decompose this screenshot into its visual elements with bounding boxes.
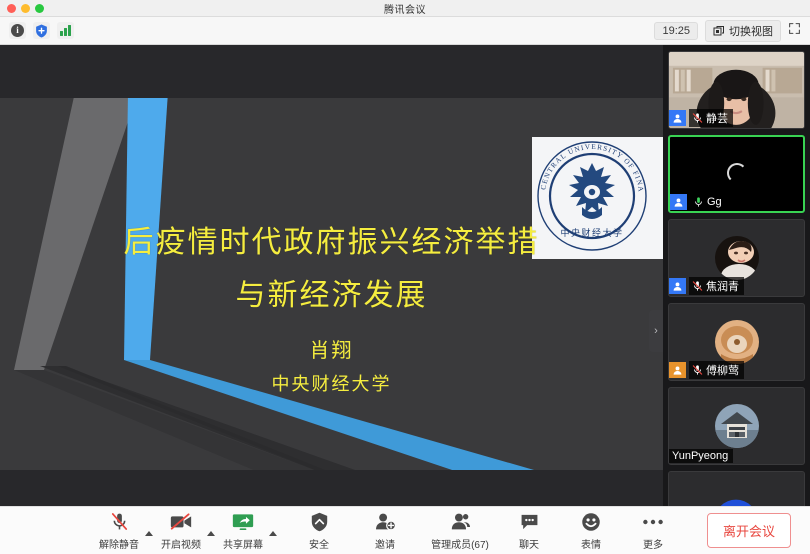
participant-tile-active[interactable]: Gg — [668, 135, 805, 213]
switch-view-label: 切换视图 — [729, 23, 773, 39]
participant-name-chip: Gg — [690, 195, 727, 209]
start-video-button[interactable]: 开启视频 — [157, 511, 205, 551]
start-video-label: 开启视频 — [161, 536, 201, 551]
person-icon — [672, 281, 683, 292]
slide-title-line1: 后疫情时代政府振兴经济举措 — [0, 216, 663, 269]
topbar-left-icons: i — [9, 22, 74, 39]
screen-share-icon — [232, 511, 254, 533]
participant-badge-icon — [669, 362, 686, 378]
manage-members-label: 管理成员(67) — [431, 536, 489, 551]
mic-active-icon — [693, 196, 704, 208]
person-icon — [672, 365, 683, 376]
avatar-photo — [715, 320, 759, 364]
participant-tile-partial[interactable] — [668, 471, 805, 506]
mic-muted-icon — [110, 511, 129, 533]
participant-name: 傅柳莺 — [706, 362, 739, 378]
participant-label: 焦润青 — [669, 276, 749, 296]
chevron-right-icon: › — [654, 325, 658, 337]
fullscreen-icon — [788, 22, 801, 35]
more-button[interactable]: 更多 — [629, 511, 677, 551]
topbar-right-controls: 19:25 切换视图 — [654, 20, 801, 42]
collapse-panel-handle[interactable]: › — [649, 310, 663, 352]
slide-organization: 中央财经大学 — [0, 370, 663, 396]
share-screen-label: 共享屏幕 — [223, 536, 263, 551]
avatar-photo — [715, 236, 759, 280]
avatar-photo — [715, 404, 759, 448]
reactions-button[interactable]: 表情 — [567, 511, 615, 551]
video-off-icon — [170, 511, 192, 533]
invite-label: 邀请 — [375, 536, 395, 551]
participant-label: YunPyeong — [669, 448, 738, 464]
participant-badge-icon — [669, 278, 686, 294]
network-signal-icon[interactable] — [57, 22, 74, 39]
leave-meeting-button[interactable]: 离开会议 — [707, 513, 791, 548]
participant-name-chip: 傅柳莺 — [689, 361, 744, 379]
meeting-toolbar: 解除静音 开启视频 — [0, 506, 810, 554]
fullscreen-button[interactable] — [788, 22, 801, 40]
shield-plus-icon[interactable] — [33, 22, 50, 39]
avatar-photo — [669, 472, 804, 506]
share-options-caret-icon[interactable] — [269, 531, 277, 536]
person-add-icon — [375, 511, 396, 533]
audio-options-caret-icon[interactable] — [145, 531, 153, 536]
chat-button[interactable]: 聊天 — [505, 511, 553, 551]
participant-rail[interactable]: 静芸 Gg — [663, 45, 810, 506]
unmute-button[interactable]: 解除静音 — [95, 511, 143, 551]
ellipsis-icon — [642, 511, 664, 533]
participant-name: 静芸 — [706, 110, 728, 126]
participant-tile[interactable]: 焦润青 — [668, 219, 805, 297]
participant-name-chip: 静芸 — [689, 109, 733, 127]
window-titlebar: 腾讯会议 — [0, 0, 810, 17]
mic-muted-icon — [692, 280, 703, 292]
toolbar-items: 解除静音 开启视频 — [95, 511, 677, 551]
chat-label: 聊天 — [519, 536, 539, 551]
info-icon-glyph: i — [11, 24, 24, 37]
shield-plus-icon-glyph — [35, 24, 48, 38]
participant-badge-icon — [669, 110, 686, 126]
app-topbar: i 19:25 切换视图 — [0, 17, 810, 45]
security-button[interactable]: 安全 — [295, 511, 343, 551]
participant-name: Gg — [707, 196, 722, 208]
participant-name-chip: YunPyeong — [669, 449, 733, 463]
people-icon — [450, 511, 471, 533]
slide-author: 肖翔 — [0, 334, 663, 363]
meeting-window: 腾讯会议 i 19:25 — [0, 0, 810, 554]
mic-muted-icon — [692, 112, 703, 124]
presentation-slide: CENTRAL UNIVERSITY OF FINANCE AND ECONOM… — [0, 98, 663, 470]
slide-title-line2: 与新经济发展 — [0, 269, 663, 322]
person-icon — [673, 197, 684, 208]
video-options-caret-icon[interactable] — [207, 531, 215, 536]
reactions-label: 表情 — [581, 536, 601, 551]
invite-button[interactable]: 邀请 — [361, 511, 409, 551]
more-label: 更多 — [643, 536, 663, 551]
participant-badge-icon — [670, 194, 687, 210]
slide-title: 后疫情时代政府振兴经济举措 与新经济发展 — [0, 216, 663, 322]
shared-content-stage: CENTRAL UNIVERSITY OF FINANCE AND ECONOM… — [0, 45, 663, 506]
participant-label: 静芸 — [669, 108, 738, 128]
unmute-label: 解除静音 — [99, 536, 139, 551]
avatar — [715, 320, 759, 364]
meeting-clock: 19:25 — [654, 22, 698, 40]
participant-label: 傅柳莺 — [669, 360, 749, 380]
participant-label: Gg — [670, 193, 732, 211]
participant-name-chip: 焦润青 — [689, 277, 744, 295]
switch-view-button[interactable]: 切换视图 — [705, 20, 781, 42]
avatar — [715, 404, 759, 448]
share-screen-button[interactable]: 共享屏幕 — [219, 511, 267, 551]
participant-name: 焦润青 — [706, 278, 739, 294]
avatar — [715, 236, 759, 280]
mic-muted-icon — [692, 364, 703, 376]
smiley-icon — [581, 511, 601, 533]
person-icon — [672, 113, 683, 124]
participant-tile[interactable]: 傅柳莺 — [668, 303, 805, 381]
manage-members-button[interactable]: 管理成员(67) — [429, 511, 491, 551]
info-icon[interactable]: i — [9, 22, 26, 39]
window-title: 腾讯会议 — [0, 1, 810, 16]
shield-icon — [310, 511, 329, 533]
participant-tile[interactable]: YunPyeong — [668, 387, 805, 465]
network-signal-bars — [60, 25, 71, 36]
chat-bubble-icon — [520, 511, 539, 533]
switch-view-icon — [713, 25, 725, 37]
security-label: 安全 — [309, 536, 329, 551]
participant-tile[interactable]: 静芸 — [668, 51, 805, 129]
loading-spinner-icon — [727, 163, 747, 183]
participant-name: YunPyeong — [672, 450, 728, 462]
